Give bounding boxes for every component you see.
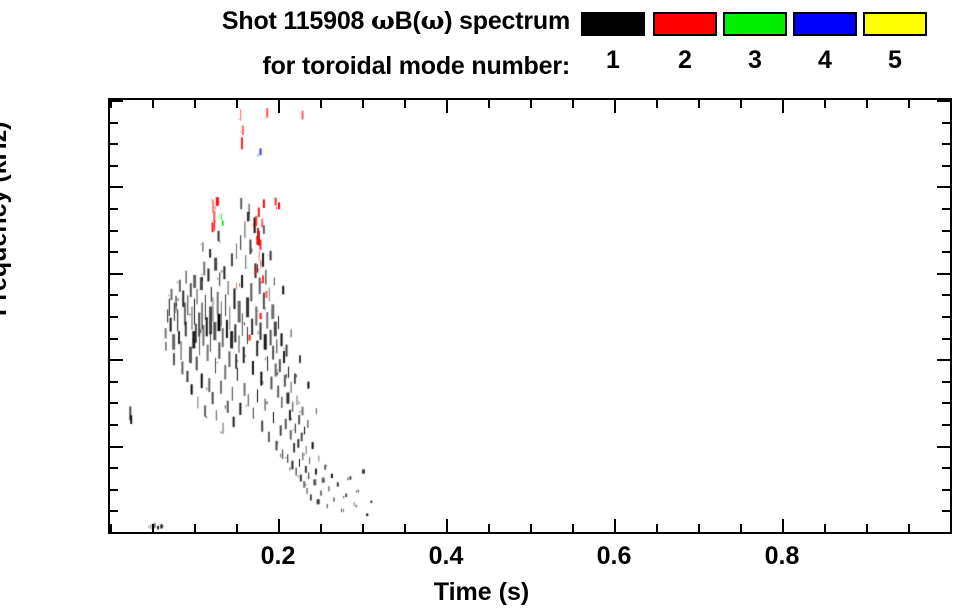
x-tick-0.3 bbox=[362, 524, 364, 532]
x-tick-label-0.6: 0.6 bbox=[597, 542, 632, 571]
x-tick-top-0.2 bbox=[278, 100, 280, 113]
x-tick-top-0.35 bbox=[404, 100, 406, 108]
legend-item-2[interactable]: 2 bbox=[653, 12, 717, 75]
y-tick-right-60 bbox=[937, 273, 950, 275]
x-tick-0.7 bbox=[698, 524, 700, 532]
y-tick-right-100 bbox=[937, 100, 950, 102]
legend: 12345 bbox=[581, 12, 926, 92]
chart-title-line-1: Shot 115908 ωB(ω) spectrum bbox=[0, 6, 570, 36]
x-tick-top-0.95 bbox=[908, 100, 910, 108]
x-axis-title: Time (s) bbox=[0, 578, 963, 607]
x-tick-0.2 bbox=[278, 519, 280, 532]
omega-symbol-1: ω bbox=[371, 6, 395, 35]
x-tick-0.4 bbox=[446, 519, 448, 532]
x-tick-top-0.1 bbox=[194, 100, 196, 108]
x-tick-top-0.5 bbox=[530, 100, 532, 108]
legend-item-4[interactable]: 4 bbox=[793, 12, 857, 75]
x-tick-0.55 bbox=[572, 524, 574, 532]
y-tick-35 bbox=[110, 381, 118, 383]
x-tick-top-0.15 bbox=[236, 100, 238, 108]
legend-swatch-2 bbox=[653, 12, 717, 36]
y-tick-right-90 bbox=[942, 143, 950, 145]
y-tick-right-20 bbox=[937, 446, 950, 448]
y-tick-55 bbox=[110, 294, 118, 296]
x-tick-top-0.25 bbox=[320, 100, 322, 108]
legend-item-3[interactable]: 3 bbox=[723, 12, 787, 75]
y-tick-65 bbox=[110, 251, 118, 253]
plot-frame bbox=[108, 98, 952, 534]
x-tick-top-0.9 bbox=[866, 100, 868, 108]
y-tick-70 bbox=[110, 230, 118, 232]
y-tick-60 bbox=[110, 273, 123, 275]
x-tick-top-0.8 bbox=[782, 100, 784, 113]
y-tick-45 bbox=[110, 338, 118, 340]
x-tick-label-0.2: 0.2 bbox=[261, 542, 296, 571]
x-tick-label-0.8: 0.8 bbox=[765, 542, 800, 571]
omega-symbol-2: ω bbox=[421, 6, 445, 35]
legend-swatch-3 bbox=[723, 12, 787, 36]
title-text-mid: B( bbox=[395, 7, 421, 35]
x-tick-top-0.7 bbox=[698, 100, 700, 108]
x-tick-0.1 bbox=[194, 524, 196, 532]
legend-item-1[interactable]: 1 bbox=[581, 12, 645, 75]
y-tick-right-70 bbox=[942, 230, 950, 232]
x-tick-0.6 bbox=[614, 519, 616, 532]
x-tick-0.95 bbox=[908, 524, 910, 532]
y-tick-right-15 bbox=[942, 467, 950, 469]
y-tick-85 bbox=[110, 165, 118, 167]
y-tick-80 bbox=[110, 186, 123, 188]
x-tick-0.9 bbox=[866, 524, 868, 532]
y-tick-right-0 bbox=[937, 532, 950, 534]
x-tick-top-1 bbox=[950, 100, 952, 108]
y-axis-title: Frequency (kHz) bbox=[0, 122, 13, 316]
x-tick-0.15 bbox=[236, 524, 238, 532]
x-tick-top-0.3 bbox=[362, 100, 364, 108]
x-tick-0.65 bbox=[656, 524, 658, 532]
y-tick-30 bbox=[110, 402, 118, 404]
y-tick-20 bbox=[110, 446, 123, 448]
x-tick-top-0.85 bbox=[824, 100, 826, 108]
legend-label-3: 3 bbox=[723, 46, 787, 75]
x-tick-top-0.45 bbox=[488, 100, 490, 108]
y-tick-0 bbox=[110, 532, 123, 534]
spectrogram-plot-area bbox=[110, 100, 950, 532]
y-tick-5 bbox=[110, 510, 118, 512]
y-tick-right-75 bbox=[942, 208, 950, 210]
x-tick-top-0.75 bbox=[740, 100, 742, 108]
y-tick-right-80 bbox=[937, 186, 950, 188]
legend-label-1: 1 bbox=[581, 46, 645, 75]
y-tick-right-85 bbox=[942, 165, 950, 167]
x-tick-0.85 bbox=[824, 524, 826, 532]
legend-label-4: 4 bbox=[793, 46, 857, 75]
y-tick-right-55 bbox=[942, 294, 950, 296]
x-tick-0.05 bbox=[152, 524, 154, 532]
x-tick-0 bbox=[110, 524, 112, 532]
x-tick-top-0.65 bbox=[656, 100, 658, 108]
y-tick-right-10 bbox=[942, 489, 950, 491]
y-tick-50 bbox=[110, 316, 118, 318]
x-tick-0.75 bbox=[740, 524, 742, 532]
legend-label-2: 2 bbox=[653, 46, 717, 75]
legend-swatch-1 bbox=[581, 12, 645, 36]
y-tick-right-5 bbox=[942, 510, 950, 512]
x-tick-0.5 bbox=[530, 524, 532, 532]
title-text-prefix: Shot 115908 bbox=[222, 7, 371, 35]
x-tick-0.45 bbox=[488, 524, 490, 532]
y-tick-25 bbox=[110, 424, 118, 426]
title-text-suffix: ) spectrum bbox=[444, 7, 570, 35]
y-tick-95 bbox=[110, 122, 118, 124]
y-tick-right-40 bbox=[937, 359, 950, 361]
legend-label-5: 5 bbox=[863, 46, 927, 75]
legend-item-5[interactable]: 5 bbox=[863, 12, 927, 75]
x-tick-0.35 bbox=[404, 524, 406, 532]
x-tick-label-0.4: 0.4 bbox=[429, 542, 464, 571]
x-tick-top-0.55 bbox=[572, 100, 574, 108]
x-tick-0.25 bbox=[320, 524, 322, 532]
y-tick-right-45 bbox=[942, 338, 950, 340]
chart-title-line-2: for toroidal mode number: bbox=[0, 52, 570, 81]
x-tick-0.8 bbox=[782, 519, 784, 532]
y-tick-75 bbox=[110, 208, 118, 210]
legend-swatch-5 bbox=[863, 12, 927, 36]
y-tick-40 bbox=[110, 359, 123, 361]
y-tick-right-30 bbox=[942, 402, 950, 404]
legend-swatch-4 bbox=[793, 12, 857, 36]
y-tick-right-25 bbox=[942, 424, 950, 426]
y-tick-right-35 bbox=[942, 381, 950, 383]
x-tick-top-0 bbox=[110, 100, 112, 108]
x-tick-top-0.4 bbox=[446, 100, 448, 113]
y-tick-15 bbox=[110, 467, 118, 469]
x-tick-top-0.05 bbox=[152, 100, 154, 108]
x-tick-1 bbox=[950, 524, 952, 532]
y-tick-90 bbox=[110, 143, 118, 145]
y-tick-10 bbox=[110, 489, 118, 491]
y-tick-right-65 bbox=[942, 251, 950, 253]
y-tick-right-95 bbox=[942, 122, 950, 124]
y-tick-right-50 bbox=[942, 316, 950, 318]
x-tick-top-0.6 bbox=[614, 100, 616, 113]
